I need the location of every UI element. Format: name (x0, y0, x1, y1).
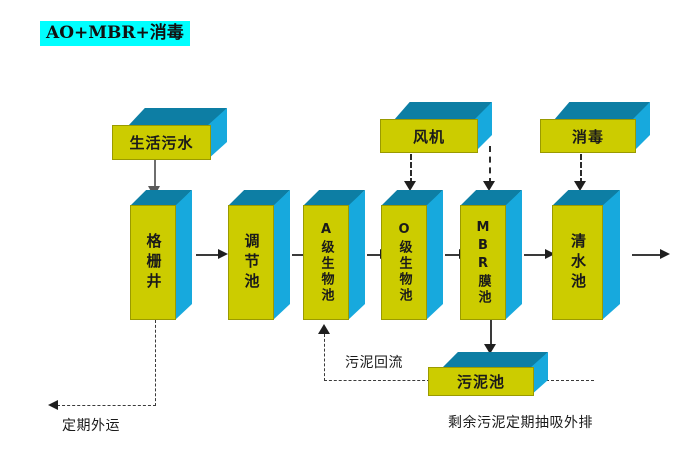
arrowhead-haul-route (48, 400, 58, 410)
box-side-face (348, 190, 365, 320)
box-front-face: 格栅井 (130, 205, 176, 320)
box-side-face (602, 190, 620, 320)
node-disinfect-label: 消毒 (572, 126, 604, 147)
connector-mbr-to-clearwater (524, 254, 547, 256)
node-equalize[interactable]: 调节池 (228, 190, 290, 320)
node-sludge[interactable]: 污泥池 (428, 352, 548, 396)
box-side-face (426, 190, 443, 320)
sludge-return-vertical (324, 334, 325, 381)
connector-blower-to-oxic (410, 154, 412, 184)
diagram-title: AO+MBR+消毒 (40, 21, 190, 46)
node-sludge-label: 污泥池 (457, 371, 505, 392)
box-side-face (273, 190, 290, 320)
box-front-face: A级生物池 (303, 205, 349, 320)
sludge-return-label: 污泥回流 (345, 352, 403, 372)
sludge-return-horizontal (324, 380, 430, 381)
haul-route-label: 定期外运 (62, 415, 120, 435)
box-front-face: 污泥池 (428, 367, 534, 396)
node-mbr[interactable]: MBR膜池 (460, 190, 522, 320)
box-side-face (175, 190, 192, 320)
node-disinfect[interactable]: 消毒 (540, 102, 650, 154)
haul-route-vertical (155, 320, 156, 406)
excess-sludge-line (546, 380, 594, 381)
node-grit[interactable]: 格栅井 (130, 190, 192, 320)
arrowhead-effluent (660, 249, 670, 259)
box-side-face (505, 190, 522, 320)
node-grit-label: 格栅井 (146, 233, 161, 293)
node-anoxic-label: A级生物池 (320, 222, 333, 304)
node-oxic[interactable]: O级生物池 (381, 190, 443, 320)
box-front-face: 消毒 (540, 119, 636, 153)
connector-disinfect-to-clearwater (580, 154, 582, 184)
node-blower-label: 风机 (413, 126, 445, 147)
node-oxic-label: O级生物池 (398, 222, 411, 304)
node-mbr-label: MBR膜池 (477, 220, 490, 306)
node-clearwater[interactable]: 清水池 (552, 190, 620, 320)
box-front-face: 调节池 (228, 205, 274, 320)
haul-route-horizontal (57, 405, 156, 406)
connector-blower-to-mbr (489, 146, 491, 184)
node-blower[interactable]: 风机 (380, 102, 492, 154)
flow-diagram-canvas: AO+MBR+消毒 生活污水 风机 消毒 格栅井 (0, 0, 700, 450)
box-front-face: 生活污水 (112, 125, 211, 160)
connector-grit-to-equalize (196, 254, 220, 256)
arrowhead-grit-to-equalize (218, 249, 228, 259)
box-front-face: MBR膜池 (460, 205, 506, 320)
node-anoxic[interactable]: A级生物池 (303, 190, 365, 320)
node-influent[interactable]: 生活污水 (112, 108, 227, 160)
box-front-face: 清水池 (552, 205, 603, 320)
node-clearwater-label: 清水池 (570, 233, 585, 293)
node-equalize-label: 调节池 (244, 233, 259, 293)
connector-clearwater-effluent (632, 254, 662, 256)
arrowhead-sludge-return (318, 324, 330, 334)
box-front-face: O级生物池 (381, 205, 427, 320)
box-top-face (442, 352, 548, 368)
node-influent-label: 生活污水 (129, 132, 193, 153)
excess-sludge-label: 剩余污泥定期抽吸外排 (448, 412, 593, 432)
box-front-face: 风机 (380, 119, 478, 153)
